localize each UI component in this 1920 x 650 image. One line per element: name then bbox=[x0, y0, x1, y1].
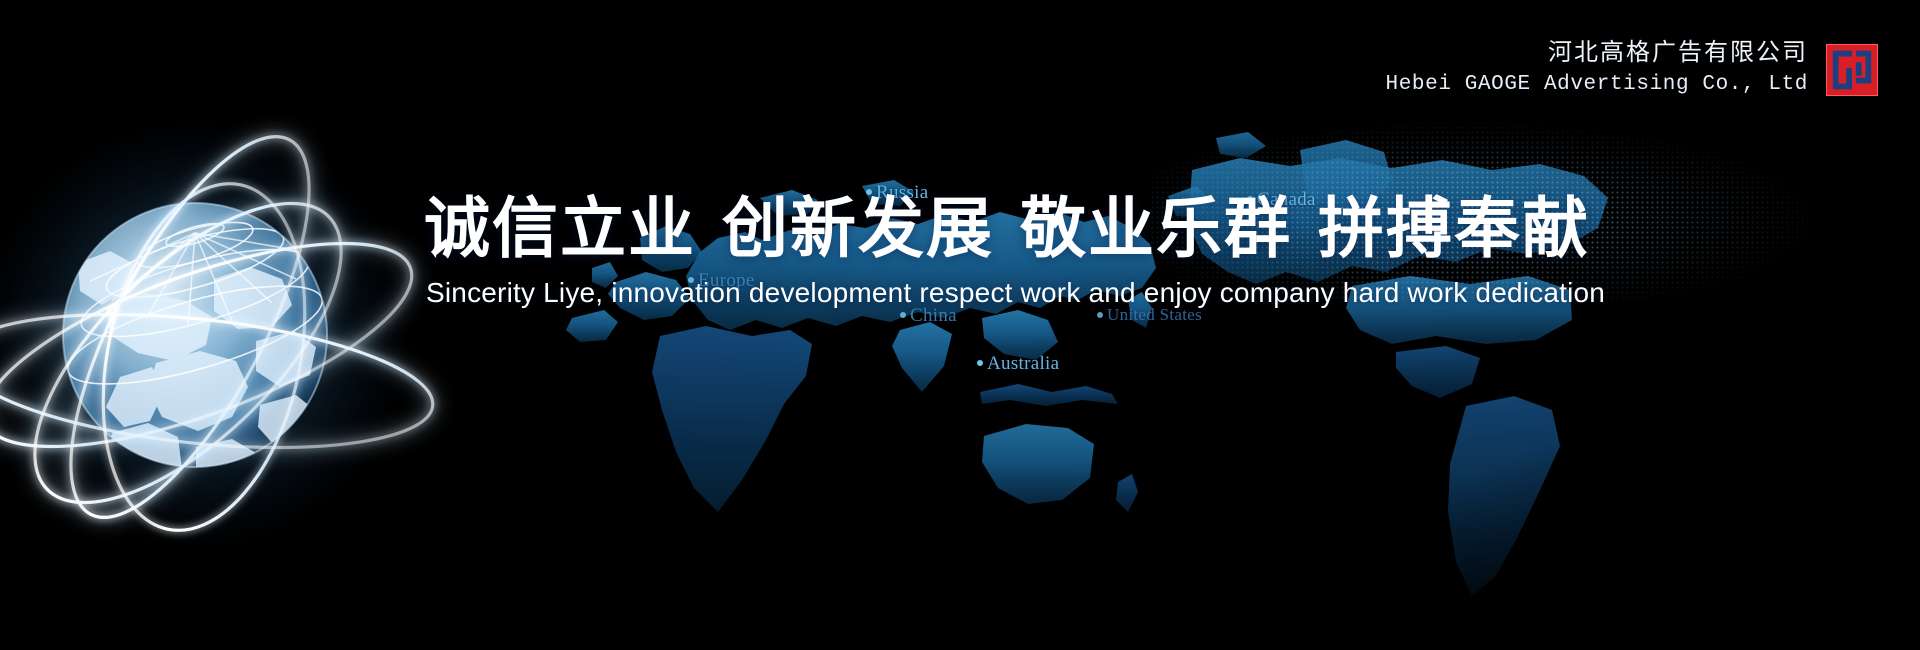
company-identity-block: 河北高格广告有限公司 Hebei GAOGE Advertising Co., … bbox=[1386, 38, 1808, 99]
map-marker-dot-china bbox=[900, 312, 906, 318]
gaoge-logo-icon bbox=[1826, 44, 1878, 96]
slogan-chinese: 诚信立业创新发展敬业乐群拼搏奉献 bbox=[424, 196, 1590, 262]
slogan-group-4: 拼搏奉献 bbox=[1318, 190, 1590, 267]
map-label-australia-text: Australia bbox=[987, 353, 1059, 374]
slogan-group-2: 创新发展 bbox=[722, 190, 994, 267]
map-marker-dot-australia bbox=[977, 360, 983, 366]
company-banner: Russia Canada Europe China United States… bbox=[0, 0, 1920, 650]
slogan-group-3: 敬业乐群 bbox=[1020, 190, 1292, 267]
map-label-australia: Australia bbox=[977, 353, 1059, 375]
slogan-group-1: 诚信立业 bbox=[424, 190, 696, 267]
map-marker-dot-united-states bbox=[1097, 312, 1103, 318]
company-name-en: Hebei GAOGE Advertising Co., Ltd bbox=[1386, 72, 1808, 99]
company-name-cn: 河北高格广告有限公司 bbox=[1386, 38, 1808, 69]
slogan-english: Sincerity Liye, innovation development r… bbox=[426, 277, 1605, 309]
